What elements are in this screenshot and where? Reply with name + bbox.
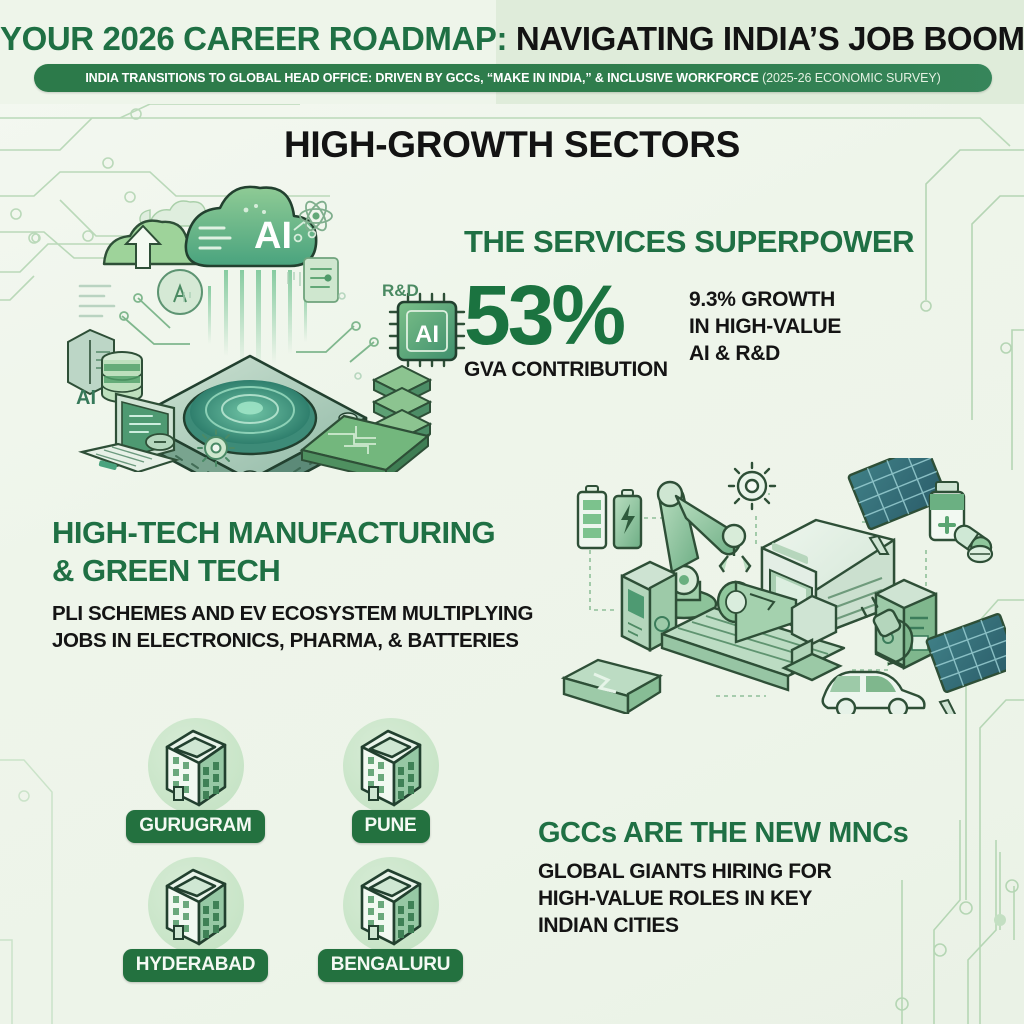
city-row-top: GURUGRAM	[118, 718, 498, 843]
header: YOUR 2026 CAREER ROADMAP: NAVIGATING IND…	[0, 0, 1024, 104]
gva-stat-value: 53%	[464, 276, 689, 354]
office-building-icon	[148, 718, 244, 814]
manufacturing-heading-line1: HIGH-TECH MANUFACTURING	[52, 515, 495, 550]
city-pune[interactable]: PUNE	[313, 718, 468, 843]
growth-note-line3: AI & R&D	[689, 340, 841, 367]
manufacturing-heading: HIGH-TECH MANUFACTURING & GREEN TECH	[52, 514, 572, 590]
office-building-icon	[343, 857, 439, 953]
city-row-bottom: HYDERABAD	[118, 857, 498, 982]
gcc-body-line1: GLOBAL GIANTS HIRING FOR	[538, 860, 831, 883]
city-label: PUNE	[352, 810, 430, 843]
cities-block: GURUGRAM	[118, 718, 498, 982]
manufacturing-body: PLI SCHEMES AND EV ECOSYSTEM MULTIPLYING…	[52, 600, 572, 654]
office-building-icon	[148, 857, 244, 953]
svg-text:AI: AI	[76, 387, 96, 409]
manufacturing-heading-line2: & GREEN TECH	[52, 553, 280, 588]
section-heading: HIGH-GROWTH SECTORS	[0, 124, 1024, 166]
gcc-heading: GCCs ARE THE NEW MNCs	[538, 816, 978, 850]
manufacturing-body-line2: JOBS IN ELECTRONICS, PHARMA, & BATTERIES	[52, 629, 519, 652]
ai-cloud-computing-illustration: AI	[58, 176, 468, 472]
subtitle-source: (2025-26 ECONOMIC SURVEY)	[759, 71, 941, 85]
services-heading: THE SERVICES SUPERPOWER	[464, 224, 944, 260]
title-green-part: YOUR 2026 CAREER ROADMAP:	[0, 20, 507, 57]
gcc-body-line3: INDIAN CITIES	[538, 914, 679, 937]
city-label: HYDERABAD	[123, 949, 269, 982]
gcc-body-line2: HIGH-VALUE ROLES IN KEY	[538, 887, 812, 910]
infographic-canvas: YOUR 2026 CAREER ROADMAP: NAVIGATING IND…	[0, 0, 1024, 1024]
page-title: YOUR 2026 CAREER ROADMAP: NAVIGATING IND…	[0, 18, 1024, 60]
manufacturing-block: HIGH-TECH MANUFACTURING & GREEN TECH PLI…	[52, 514, 572, 654]
svg-text:AI: AI	[415, 321, 439, 348]
city-label: GURUGRAM	[126, 810, 264, 843]
city-gurugram[interactable]: GURUGRAM	[118, 718, 273, 843]
growth-note: 9.3% GROWTH IN HIGH-VALUE AI & R&D	[689, 286, 841, 367]
title-dark-part: NAVIGATING INDIA’S JOB BOOM	[516, 20, 1024, 57]
growth-note-line1: 9.3% GROWTH	[689, 286, 841, 313]
gva-stat: 53% GVA CONTRIBUTION	[464, 276, 689, 382]
gcc-body: GLOBAL GIANTS HIRING FOR HIGH-VALUE ROLE…	[538, 858, 978, 939]
city-hyderabad[interactable]: HYDERABAD	[118, 857, 273, 982]
office-building-icon	[343, 718, 439, 814]
subtitle-text: INDIA TRANSITIONS TO GLOBAL HEAD OFFICE:…	[85, 71, 940, 85]
smart-factory-green-tech-illustration	[556, 458, 1006, 714]
subtitle-banner: INDIA TRANSITIONS TO GLOBAL HEAD OFFICE:…	[34, 64, 992, 92]
services-block: THE SERVICES SUPERPOWER 53% GVA CONTRIBU…	[464, 224, 944, 382]
svg-text:AI: AI	[254, 215, 292, 257]
gcc-block: GCCs ARE THE NEW MNCs GLOBAL GIANTS HIRI…	[538, 816, 978, 939]
subtitle-bold: INDIA TRANSITIONS TO GLOBAL HEAD OFFICE:…	[85, 71, 758, 85]
city-label: BENGALURU	[318, 949, 464, 982]
svg-text:R&D: R&D	[382, 281, 419, 300]
manufacturing-body-line1: PLI SCHEMES AND EV ECOSYSTEM MULTIPLYING	[52, 602, 533, 625]
growth-note-line2: IN HIGH-VALUE	[689, 313, 841, 340]
gva-stat-label: GVA CONTRIBUTION	[464, 358, 689, 382]
city-bengaluru[interactable]: BENGALURU	[313, 857, 468, 982]
